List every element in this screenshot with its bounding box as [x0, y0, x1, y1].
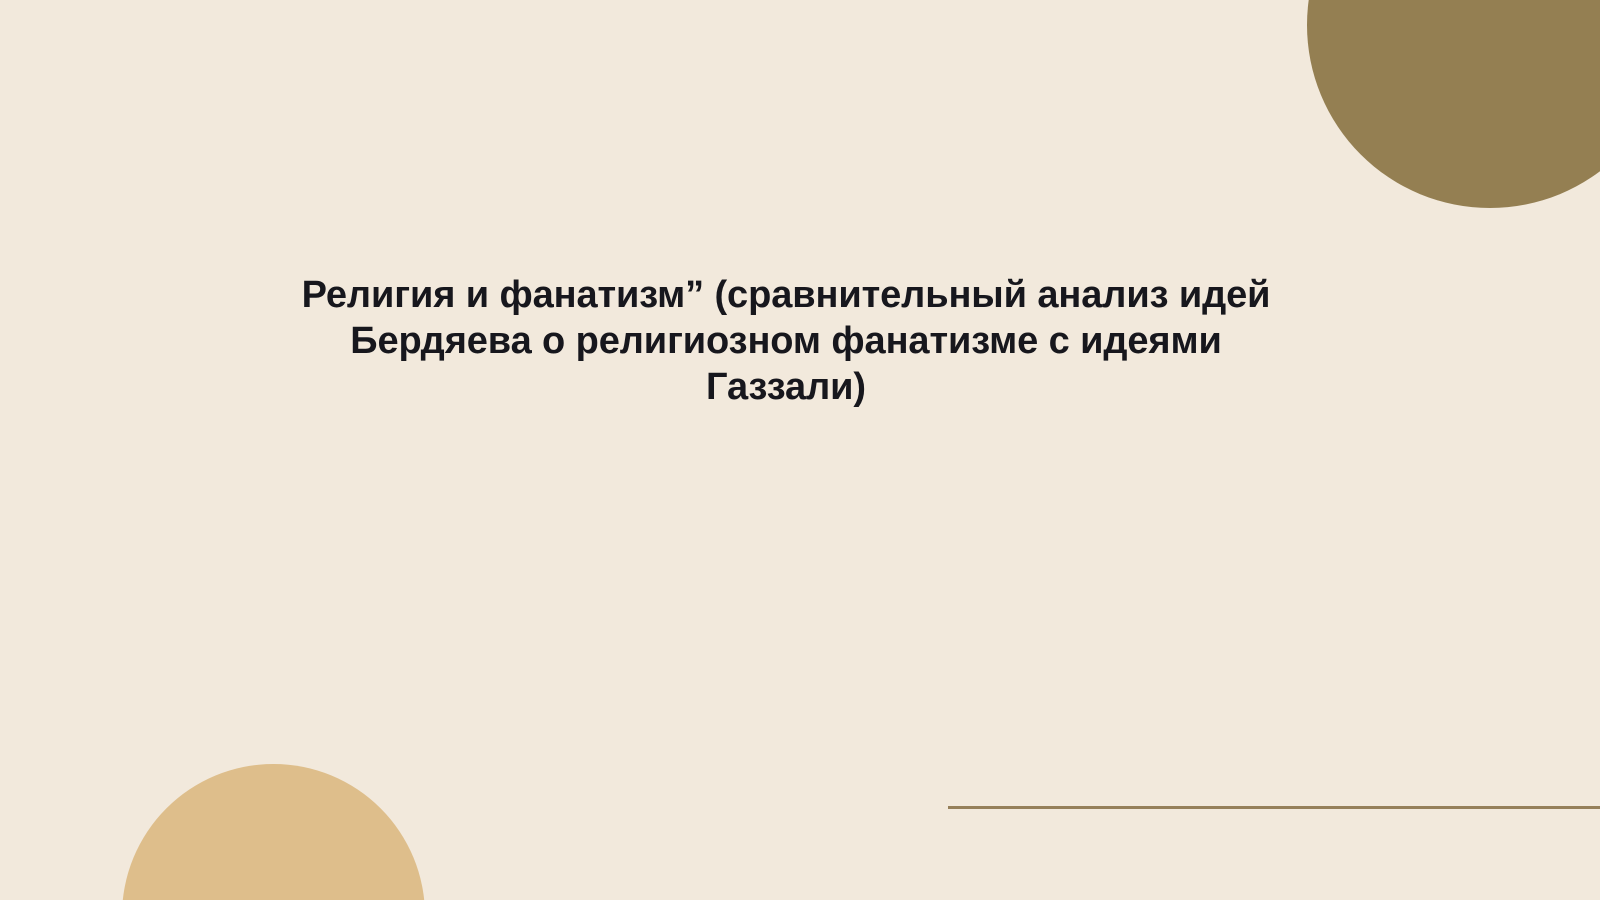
decorative-horizontal-rule [948, 806, 1600, 809]
decorative-circle-top-right-icon [1307, 0, 1600, 208]
decorative-circle-bottom-left-icon [122, 764, 425, 900]
slide-title: Религия и фанатизм” (сравнительный анали… [286, 272, 1286, 410]
title-block: Религия и фанатизм” (сравнительный анали… [286, 272, 1286, 410]
presentation-slide: Религия и фанатизм” (сравнительный анали… [0, 0, 1600, 900]
